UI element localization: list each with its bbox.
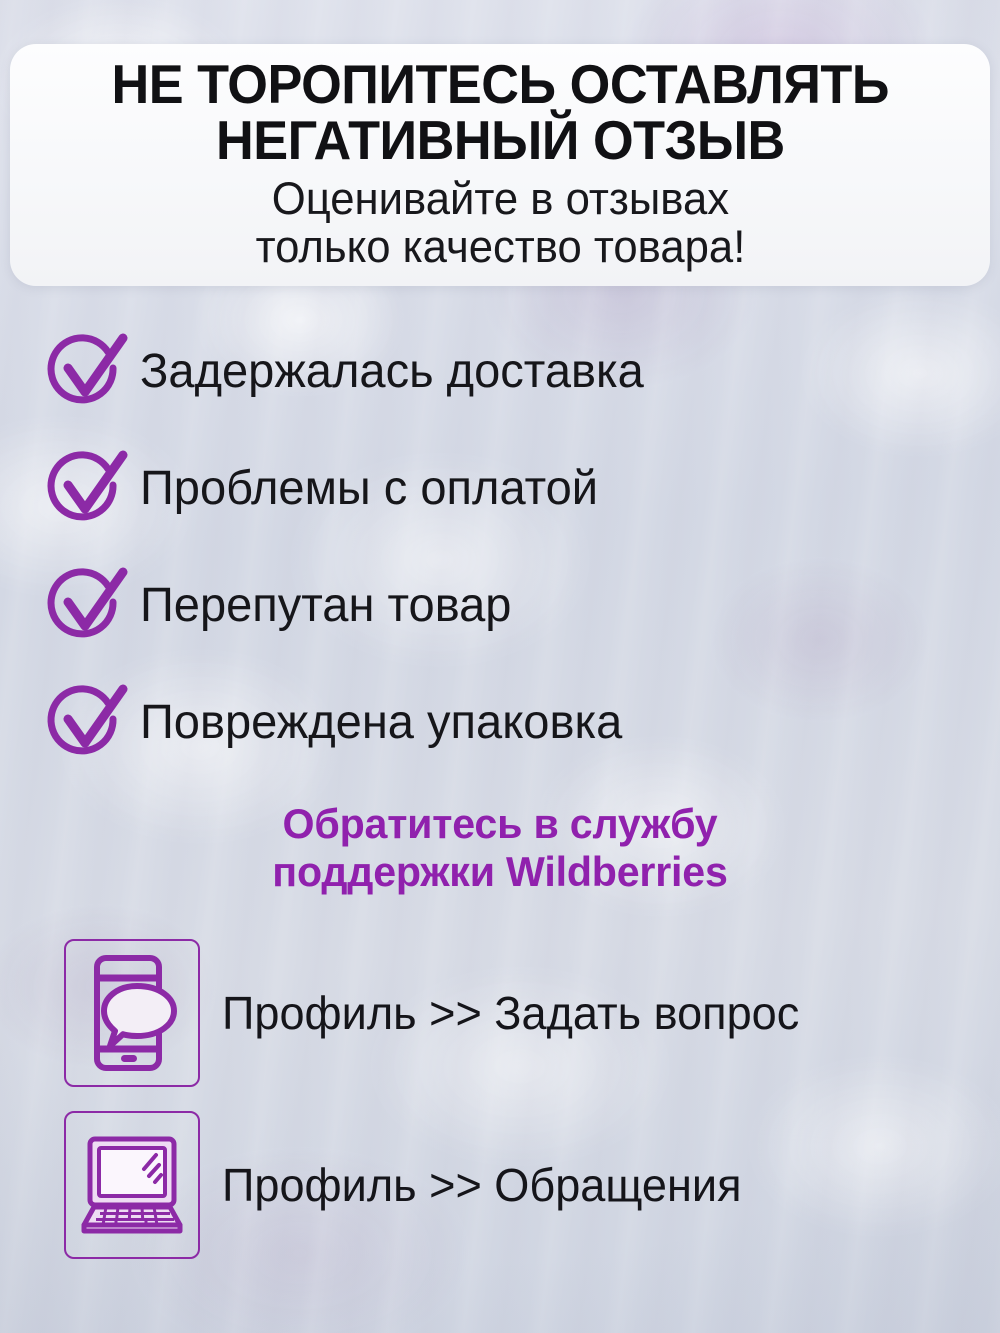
channel-label: Профиль >> Обращения	[222, 1160, 741, 1210]
support-heading-line-2: поддержки Wildberries	[10, 848, 990, 896]
channel-label: Профиль >> Задать вопрос	[222, 988, 799, 1038]
list-item-label: Задержалась доставка	[140, 346, 644, 398]
subheadline-line-2: только качество товара!	[255, 223, 745, 271]
support-heading: Обратитесь в службу поддержки Wildberrie…	[10, 800, 990, 896]
header-card: НЕ ТОРОПИТЕСЬ ОСТАВЛЯТЬ НЕГАТИВНЫЙ ОТЗЫВ…	[10, 44, 990, 286]
support-channels: Профиль >> Задать вопрос	[64, 938, 994, 1282]
headline-line-2: НЕГАТИВНЫЙ ОТЗЫВ	[216, 112, 785, 168]
list-item: Проблемы с оплатой	[44, 449, 964, 529]
check-circle-icon	[44, 566, 128, 646]
list-item: Повреждена упаковка	[44, 683, 964, 763]
smartphone-chat-icon-frame	[64, 939, 200, 1087]
check-circle-icon	[44, 332, 128, 412]
headline-line-1: НЕ ТОРОПИТЕСЬ ОСТАВЛЯТЬ	[111, 56, 888, 112]
list-item: Профиль >> Обращения	[64, 1110, 994, 1260]
laptop-icon-frame	[64, 1111, 200, 1259]
smartphone-chat-icon	[80, 951, 184, 1075]
subheadline-line-1: Оценивайте в отзывах	[255, 175, 745, 223]
checklist: Задержалась доставка Проблемы с оплатой …	[44, 332, 964, 800]
list-item-label: Перепутан товар	[140, 580, 511, 632]
poster-canvas: НЕ ТОРОПИТЕСЬ ОСТАВЛЯТЬ НЕГАТИВНЫЙ ОТЗЫВ…	[0, 0, 1000, 1333]
list-item-label: Повреждена упаковка	[140, 697, 622, 749]
list-item: Перепутан товар	[44, 566, 964, 646]
list-item: Задержалась доставка	[44, 332, 964, 412]
subheadline: Оценивайте в отзывах только качество тов…	[248, 175, 753, 271]
laptop-icon	[76, 1129, 188, 1241]
support-heading-line-1: Обратитесь в службу	[10, 800, 990, 848]
check-circle-icon	[44, 683, 128, 763]
list-item: Профиль >> Задать вопрос	[64, 938, 994, 1088]
list-item-label: Проблемы с оплатой	[140, 463, 598, 515]
check-circle-icon	[44, 449, 128, 529]
